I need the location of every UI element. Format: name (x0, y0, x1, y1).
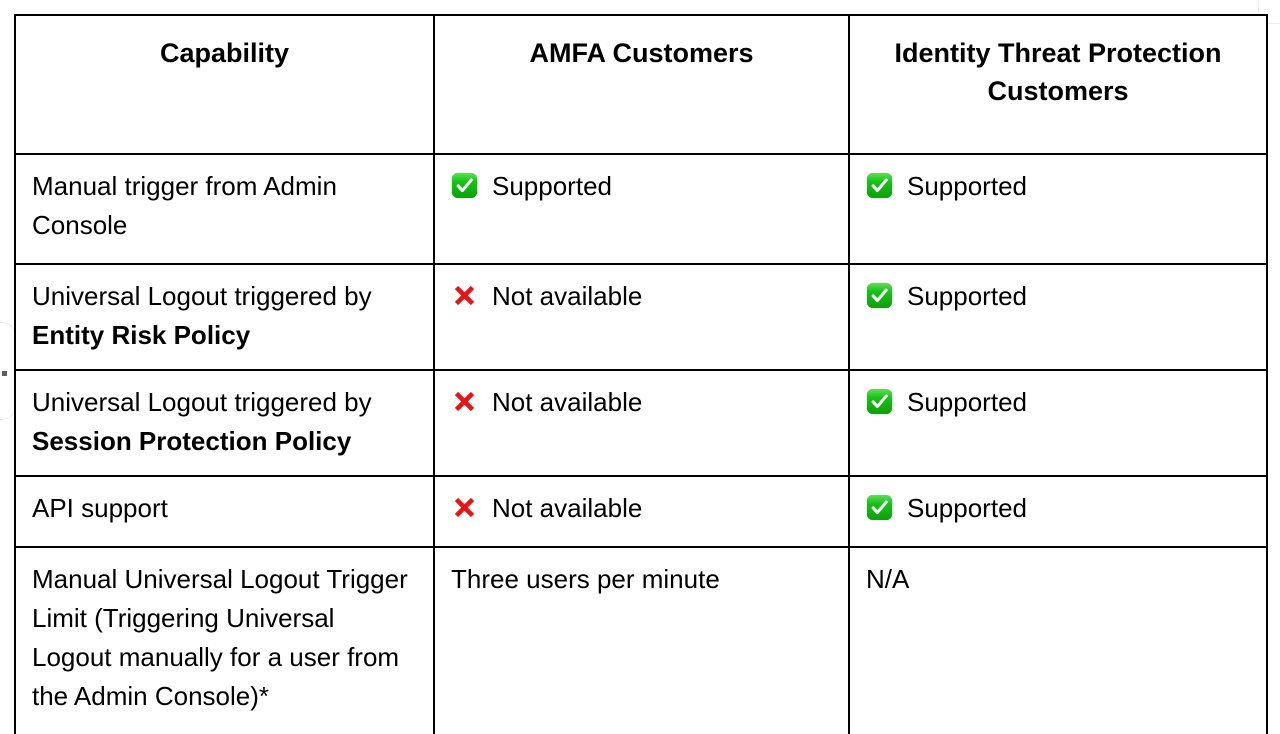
status-label: Not available (492, 489, 642, 528)
itp-status-cell: Supported (849, 264, 1267, 370)
status-label: Supported (907, 167, 1027, 206)
cross-mark-icon (451, 282, 478, 309)
status-label: Three users per minute (451, 560, 720, 599)
cross-mark-icon (451, 494, 478, 521)
status-label: Not available (492, 383, 642, 422)
capability-text: API support (32, 493, 168, 523)
column-header-capability: Capability (15, 15, 434, 154)
capability-text: Universal Logout triggered by (32, 281, 372, 311)
amfa-status-cell: Supported (434, 154, 849, 264)
status-label: N/A (866, 560, 909, 599)
check-mark-button-icon (866, 494, 893, 521)
amfa-status-cell: Not available (434, 370, 849, 476)
status-label: Supported (907, 277, 1027, 316)
itp-status-cell: N/A (849, 547, 1267, 734)
capability-text: Universal Logout triggered by (32, 387, 372, 417)
check-mark-button-icon (866, 388, 893, 415)
capability-cell: Manual Universal Logout Trigger Limit (T… (15, 547, 434, 734)
itp-status-cell: Supported (849, 154, 1267, 264)
table-header-row: Capability AMFA Customers Identity Threa… (15, 15, 1267, 154)
check-mark-button-icon (866, 282, 893, 309)
amfa-status-cell: Not available (434, 264, 849, 370)
table-row: Universal Logout triggered by Entity Ris… (15, 264, 1267, 370)
table-row: API support Not available (15, 476, 1267, 547)
amfa-status-cell: Three users per minute (434, 547, 849, 734)
capability-text-bold: Session Protection Policy (32, 426, 351, 456)
status-label: Supported (492, 167, 612, 206)
cross-mark-icon (451, 388, 478, 415)
table-row: Manual Universal Logout Trigger Limit (T… (15, 547, 1267, 734)
status-label: Supported (907, 489, 1027, 528)
capability-cell: Universal Logout triggered by Session Pr… (15, 370, 434, 476)
status-label: Not available (492, 277, 642, 316)
amfa-status-cell: Not available (434, 476, 849, 547)
table-row: Manual trigger from Admin Console Suppor… (15, 154, 1267, 264)
capability-cell: API support (15, 476, 434, 547)
background-marker-dot (2, 371, 7, 376)
comparison-table-container: Capability AMFA Customers Identity Threa… (14, 14, 1266, 734)
itp-status-cell: Supported (849, 370, 1267, 476)
capability-text-bold: Entity Risk Policy (32, 320, 250, 350)
capability-text: Manual trigger from Admin Console (32, 171, 337, 240)
check-mark-button-icon (866, 172, 893, 199)
column-header-itp-customers: Identity Threat Protection Customers (849, 15, 1267, 154)
status-label: Supported (907, 383, 1027, 422)
capability-cell: Universal Logout triggered by Entity Ris… (15, 264, 434, 370)
check-mark-button-icon (451, 172, 478, 199)
capability-comparison-table: Capability AMFA Customers Identity Threa… (14, 14, 1268, 734)
column-header-amfa-customers: AMFA Customers (434, 15, 849, 154)
capability-text: Manual Universal Logout Trigger Limit (T… (32, 564, 408, 711)
capability-cell: Manual trigger from Admin Console (15, 154, 434, 264)
table-row: Universal Logout triggered by Session Pr… (15, 370, 1267, 476)
itp-status-cell: Supported (849, 476, 1267, 547)
